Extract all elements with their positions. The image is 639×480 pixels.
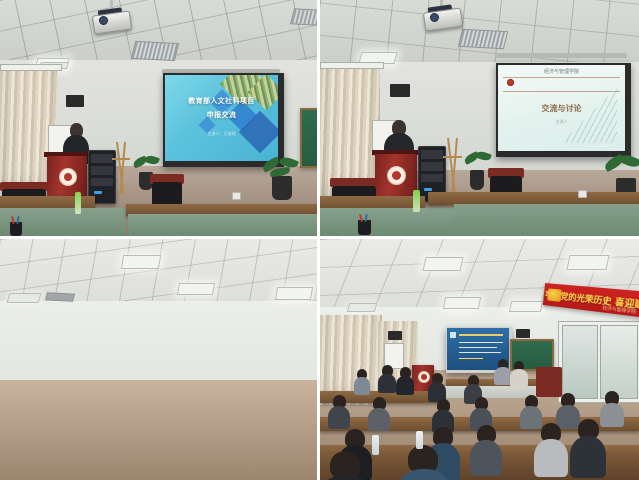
- wall-speaker: [390, 84, 410, 97]
- slide-header: 经济与管理学院: [498, 68, 625, 75]
- audience-body: [396, 376, 414, 395]
- audience-body: [378, 374, 396, 393]
- audience-member: [570, 419, 606, 475]
- projection-screen-frame: 教育部人文社科项目 申报交流 主讲人：王老师: [163, 73, 284, 167]
- scene-bottom-left: 牢记党的光荣历史 喜迎建党100周年！ 经济与管理学院: [0, 239, 317, 480]
- audience-member: [328, 395, 350, 427]
- window-frame: [320, 62, 384, 69]
- audience-member: [396, 367, 414, 393]
- chalkboard: [300, 108, 317, 168]
- slide-subtitle: 主讲人: [498, 119, 625, 125]
- water-bottle: [372, 435, 379, 455]
- conference-table-top: [454, 204, 639, 236]
- slide-white: 经济与管理学院 交流与讨论 主讲人: [498, 65, 625, 151]
- audience-member: [470, 425, 502, 473]
- panelist: [510, 361, 528, 385]
- slide-logo-block: [450, 332, 456, 338]
- slide-blue: 教育部人文社科项目 申报交流 主讲人：王老师: [165, 75, 278, 161]
- conference-table-top: [320, 208, 460, 236]
- ceiling-vent: [458, 29, 508, 49]
- chair: [152, 182, 182, 206]
- rack-slot: [91, 166, 113, 175]
- scene-top-right: 经济与管理学院 交流与讨论 主讲人: [320, 0, 639, 236]
- ceiling-light: [566, 255, 609, 270]
- university-emblem-icon: [387, 166, 406, 185]
- panel-top-left: 教育部人文社科项目 申报交流 主讲人：王老师: [0, 0, 317, 236]
- panel-bottom-left: 牢记党的光荣历史 喜迎建党100周年！ 经济与管理学院: [0, 239, 317, 480]
- conference-table-top: [128, 214, 317, 236]
- audience-member: [428, 373, 446, 399]
- projector-lens-icon: [99, 16, 108, 25]
- projector-lens-icon: [430, 13, 439, 22]
- wall-speaker: [516, 329, 530, 338]
- audience-member: [534, 423, 568, 473]
- slide-title: 教育部人文社科项目: [165, 97, 278, 106]
- window-pane: [600, 325, 638, 399]
- ceiling-light: [177, 283, 215, 295]
- slide-text-line: [459, 358, 483, 359]
- projection-screen-case: [495, 53, 627, 58]
- wall-speaker: [388, 331, 402, 340]
- ceiling-vent: [131, 41, 179, 61]
- easel-crossbar: [443, 156, 462, 158]
- audience-member: [368, 397, 390, 429]
- floor: [0, 380, 317, 480]
- scene-top-left: 教育部人文社科项目 申报交流 主讲人：王老师: [0, 0, 317, 236]
- ceiling-vent: [290, 8, 317, 25]
- audience-body: [368, 408, 390, 431]
- plant-pot: [272, 176, 292, 200]
- rack-slot: [421, 162, 443, 171]
- emblem-inner: [392, 171, 402, 181]
- water-bottle: [75, 192, 81, 214]
- window-frame: [0, 64, 62, 71]
- rack-indicator-led: [424, 188, 432, 191]
- wall-outlet: [232, 192, 241, 200]
- water-bottle: [416, 431, 423, 449]
- audience-member: [398, 445, 450, 480]
- wall-speaker: [66, 95, 84, 107]
- scene-bottom-right: 牢记党的光荣历史 喜迎建党100周年 经济与管理学院: [320, 239, 639, 480]
- water-bottle: [413, 190, 420, 212]
- slide-fan-graphic: [561, 87, 617, 143]
- audience-body: [398, 469, 450, 480]
- projection-screen-surface: 教育部人文社科项目 申报交流 主讲人：王老师: [165, 75, 278, 161]
- window-pane: [562, 325, 598, 399]
- audience-body: [534, 439, 568, 477]
- ceiling-light: [275, 287, 313, 300]
- ceiling-light: [443, 297, 482, 309]
- rack-slot: [91, 154, 113, 163]
- ceiling-fan: [45, 292, 75, 301]
- audience-member: [354, 369, 370, 393]
- audience-member: [378, 365, 396, 391]
- easel-crossbar: [112, 158, 130, 160]
- plant-pot: [470, 170, 484, 190]
- projection-screen-surface: 经济与管理学院 交流与讨论 主讲人: [498, 65, 625, 151]
- wall-outlet: [578, 190, 587, 198]
- slide-text-line: [459, 342, 503, 343]
- pen-holder: [10, 222, 22, 236]
- slide-text-line: [459, 352, 501, 353]
- slide-text-line: [459, 347, 497, 348]
- emblem-inner: [64, 173, 73, 182]
- slide-presenter: 主讲人：王老师: [165, 131, 278, 137]
- audience-body: [320, 475, 372, 480]
- photo-collage: 教育部人文社科项目 申报交流 主讲人：王老师: [0, 0, 639, 480]
- slide-subtitle: 申报交流: [165, 111, 278, 120]
- slide-rule: [503, 77, 620, 78]
- audience-body: [328, 406, 350, 429]
- ceiling-light: [121, 255, 161, 269]
- slide-title: 交流与讨论: [498, 103, 625, 114]
- panelist-body: [510, 369, 528, 387]
- rack-slot: [421, 174, 443, 182]
- rack-indicator-led: [94, 191, 102, 194]
- projection-screen-frame: 经济与管理学院 交流与讨论 主讲人: [496, 63, 631, 157]
- slide-seal-icon: [507, 79, 514, 86]
- pen-holder: [358, 220, 371, 235]
- slide-rule: [503, 91, 620, 92]
- audience-member: [320, 451, 372, 480]
- emblem-inner: [421, 374, 427, 380]
- ceiling-light: [7, 293, 42, 303]
- ceiling-light: [509, 301, 543, 312]
- audience-body: [354, 377, 370, 395]
- panel-bottom-right: 牢记党的光荣历史 喜迎建党100周年 经济与管理学院: [320, 239, 639, 480]
- ceiling-light: [347, 303, 378, 312]
- ceiling-light: [423, 257, 464, 271]
- rack-slot: [91, 178, 113, 186]
- panel-top-right: 经济与管理学院 交流与讨论 主讲人: [320, 0, 639, 236]
- rack-slot: [421, 150, 443, 159]
- university-emblem-icon: [59, 168, 77, 186]
- banner-logo-icon: [547, 288, 562, 302]
- audience-body: [570, 436, 606, 478]
- audience-body: [470, 440, 502, 476]
- slide-heading-line: [459, 334, 503, 336]
